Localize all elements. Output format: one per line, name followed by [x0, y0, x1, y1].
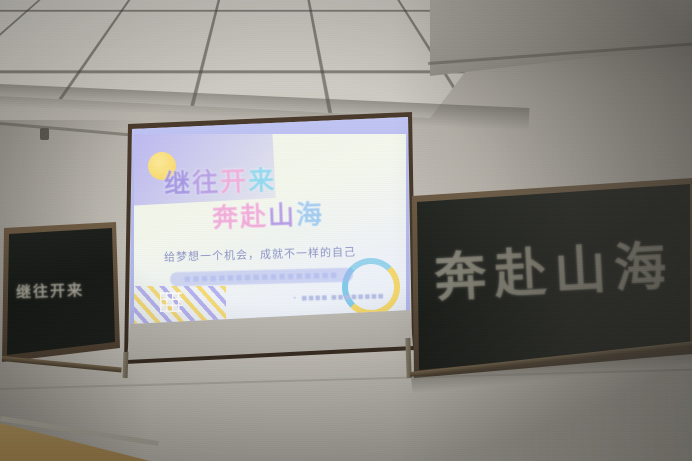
classroom-photo: 继往开来 继往开来 奔赴山海 给梦想一个机会，成就不一样的自己: [0, 0, 692, 461]
photo-vignette: [0, 0, 692, 461]
